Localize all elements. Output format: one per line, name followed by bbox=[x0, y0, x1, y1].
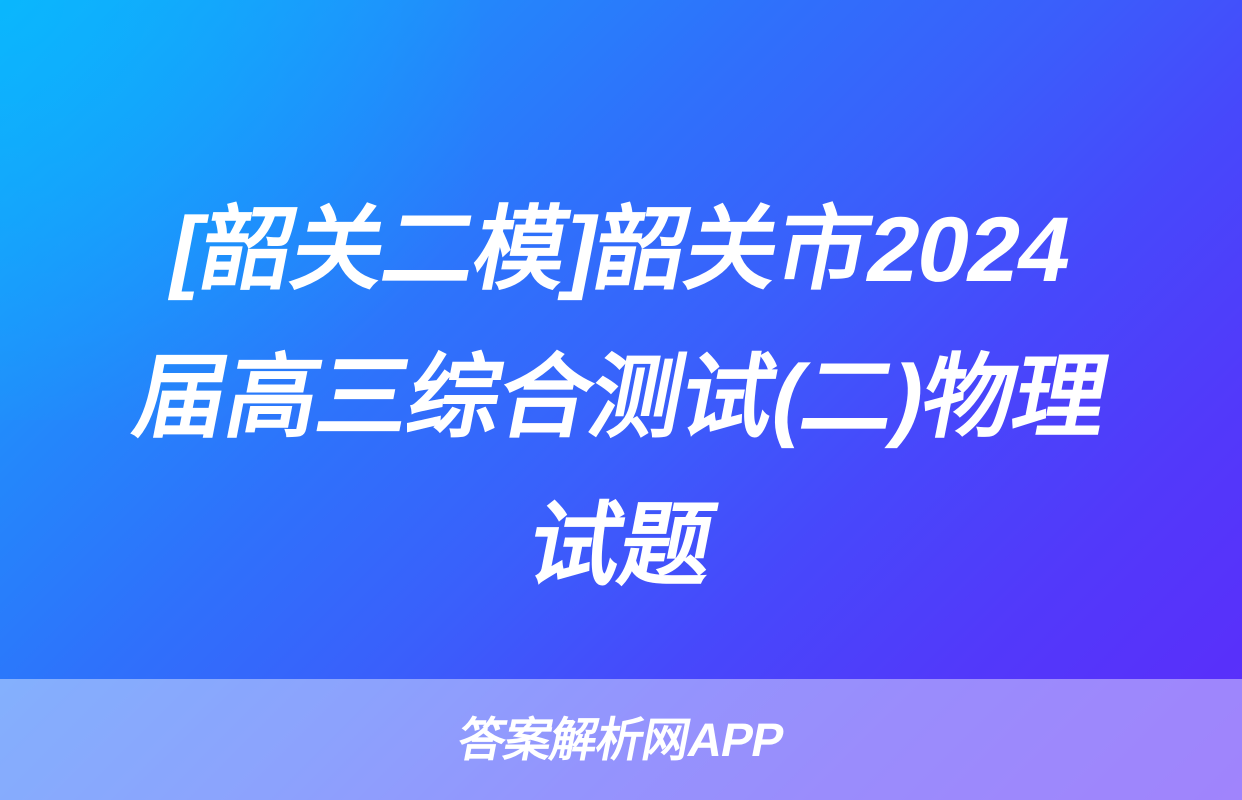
page-title: [韶关二模]韶关市2024 届高三综合测试(二)物理 试题 bbox=[0, 176, 1242, 620]
app-brand-label: 答案解析网APP bbox=[455, 716, 788, 763]
title-line-3: 试题 bbox=[38, 472, 1205, 620]
title-line-1: [韶关二模]韶关市2024 bbox=[38, 176, 1205, 324]
footer-brand-bar: 答案解析网APP bbox=[0, 679, 1242, 800]
title-card-poster: [韶关二模]韶关市2024 届高三综合测试(二)物理 试题 答案解析网APP bbox=[0, 0, 1242, 800]
title-line-2: 届高三综合测试(二)物理 bbox=[38, 324, 1205, 472]
